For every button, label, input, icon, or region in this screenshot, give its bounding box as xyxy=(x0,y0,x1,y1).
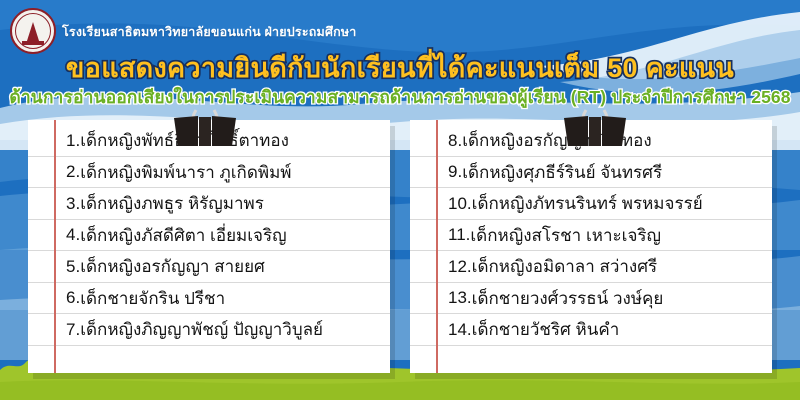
name-list-item: 3.เด็กหญิงภพธูร หิรัญมาพร xyxy=(28,188,390,220)
name-list-item-number: 7. xyxy=(66,320,80,340)
name-list-item-number: 9. xyxy=(448,162,462,182)
name-list-item: 10.เด็กหญิงภัทรนรินทร์ พรหมจรรย์ xyxy=(410,188,772,220)
name-list-item: 2.เด็กหญิงพิมพ์นารา ภูเกิดพิมพ์ xyxy=(28,157,390,189)
name-list-item-name: เด็กชายวัชริศ หินคำ xyxy=(472,316,620,343)
name-list-item-number: 2. xyxy=(66,162,80,182)
name-list-item: 7.เด็กหญิงภิญญาพัชญ์ ปัญญาวิบูลย์ xyxy=(28,314,390,346)
name-list-item-name: เด็กชายวงศ์วรรธน์ วงษ์คุย xyxy=(472,285,664,312)
name-list-item-name: เด็กหญิงภัทรนรินทร์ พรหมจรรย์ xyxy=(472,190,703,217)
name-list-item-number: 13. xyxy=(448,288,472,308)
name-list-item: 6.เด็กชายจักริน ปรีชา xyxy=(28,283,390,315)
name-list-item: 13.เด็กชายวงศ์วรรธน์ วงษ์คุย xyxy=(410,283,772,315)
emblem-base xyxy=(22,41,44,45)
binder-clip-right-icon xyxy=(558,106,632,154)
binder-clip-left-icon xyxy=(168,106,242,154)
name-list-item-name: เด็กหญิงศุภธีร์รินย์ จันทรศรี xyxy=(462,159,662,186)
name-list-item-name: เด็กหญิงภัสดีศิตา เอี่ยมเจริญ xyxy=(80,222,286,249)
emblem-ring xyxy=(15,13,51,49)
name-list-item-number: 1. xyxy=(66,131,80,151)
name-list-item-name: เด็กหญิงพิมพ์นารา ภูเกิดพิมพ์ xyxy=(80,159,291,186)
name-list-item: 12.เด็กหญิงอมิดาลา สว่างศรี xyxy=(410,251,772,283)
page-subtitle: ด้านการอ่านออกเสียงในการประเมินความสามาร… xyxy=(0,83,800,111)
name-list-right: 8.เด็กหญิงอรกัญญา เงินทอง9.เด็กหญิงศุภธี… xyxy=(410,120,772,373)
name-list-item-number: 3. xyxy=(66,194,80,214)
name-list-item-name: เด็กหญิงสโรชา เหาะเจริญ xyxy=(470,222,661,249)
header: โรงเรียนสาธิตมหาวิทยาลัยขอนแก่น ฝ่ายประถ… xyxy=(0,0,800,115)
name-list-item-number: 5. xyxy=(66,257,80,277)
name-list-left: 1.เด็กหญิงพัทธ์ธีรา โพธิ์ตาทอง2.เด็กหญิง… xyxy=(28,120,390,373)
name-list-item: 11.เด็กหญิงสโรชา เหาะเจริญ xyxy=(410,220,772,252)
name-list-item: 9.เด็กหญิงศุภธีร์รินย์ จันทรศรี xyxy=(410,157,772,189)
name-list-item-name: เด็กหญิงภิญญาพัชญ์ ปัญญาวิบูลย์ xyxy=(80,316,323,343)
name-list-item-name: เด็กหญิงอมิดาลา สว่างศรี xyxy=(472,253,658,280)
name-list-item: 5.เด็กหญิงอรกัญญา สายยศ xyxy=(28,251,390,283)
name-list-item-number: 4. xyxy=(66,225,80,245)
name-list-item-name: เด็กชายจักริน ปรีชา xyxy=(80,285,225,312)
name-list-panel-right: 8.เด็กหญิงอรกัญญา เงินทอง9.เด็กหญิงศุภธี… xyxy=(410,120,772,373)
school-name: โรงเรียนสาธิตมหาวิทยาลัยขอนแก่น ฝ่ายประถ… xyxy=(62,22,357,42)
name-list-item: 14.เด็กชายวัชริศ หินคำ xyxy=(410,314,772,346)
name-list-item: 4.เด็กหญิงภัสดีศิตา เอี่ยมเจริญ xyxy=(28,220,390,252)
name-list-panel-left: 1.เด็กหญิงพัทธ์ธีรา โพธิ์ตาทอง2.เด็กหญิง… xyxy=(28,120,390,373)
name-list-item-name: เด็กหญิงอรกัญญา สายยศ xyxy=(80,253,265,280)
name-list-item-number: 12. xyxy=(448,257,472,277)
name-list-item-name: เด็กหญิงภพธูร หิรัญมาพร xyxy=(80,190,264,217)
name-list-item-number: 11. xyxy=(448,225,470,245)
name-list-item-number: 14. xyxy=(448,320,472,340)
name-list-item-number: 8. xyxy=(448,131,462,151)
name-list-item-number: 6. xyxy=(66,288,80,308)
name-list-item-number: 10. xyxy=(448,194,472,214)
